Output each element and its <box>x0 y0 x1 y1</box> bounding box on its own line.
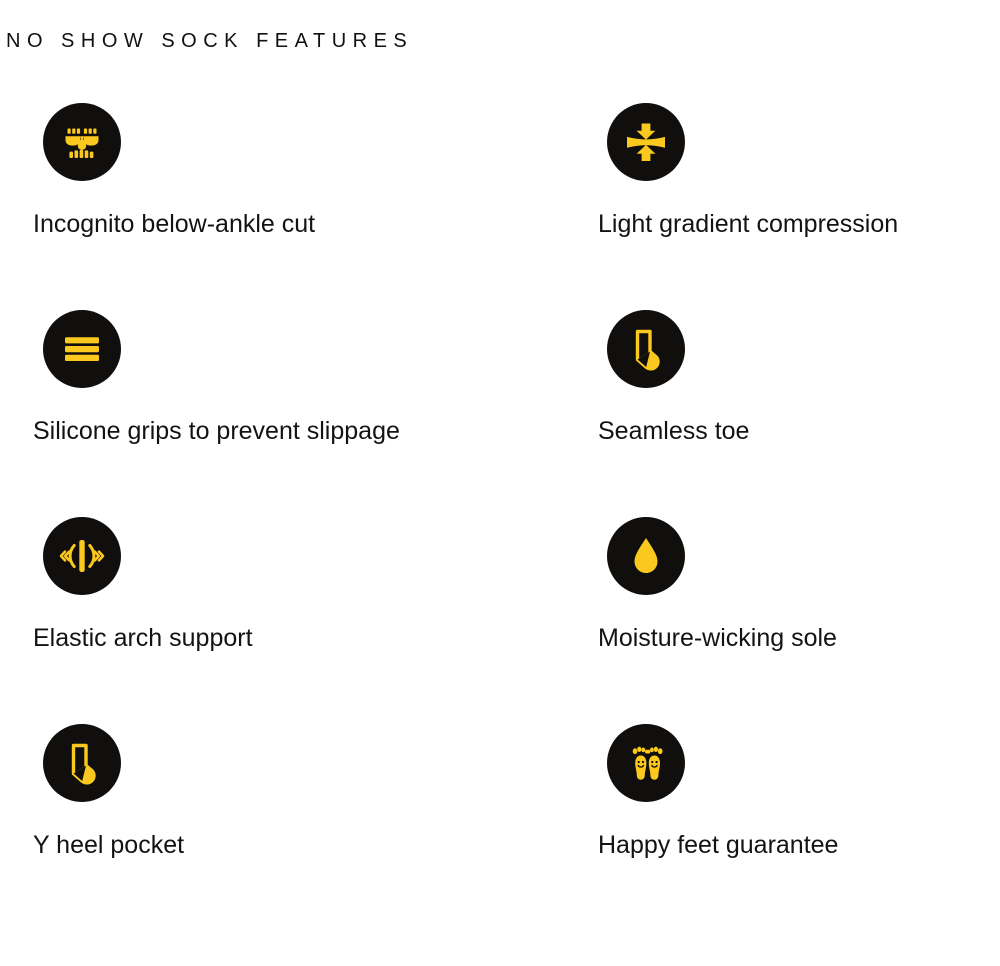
water-droplet-icon <box>607 517 685 595</box>
feature-item: Silicone grips to prevent slippage <box>0 310 604 517</box>
happy-footprints-icon <box>607 724 685 802</box>
feature-item: Seamless toe <box>604 310 1000 517</box>
feature-label: Moisture-wicking sole <box>598 623 1000 653</box>
feature-label: Incognito below-ankle cut <box>33 209 604 239</box>
feature-label: Y heel pocket <box>33 830 604 860</box>
feature-item: Incognito below-ankle cut <box>0 103 604 310</box>
feature-label: Seamless toe <box>598 416 1000 446</box>
feature-list-page: NO SHOW SOCK FEATURES <box>0 0 1000 966</box>
feature-item: Y heel pocket <box>0 724 604 931</box>
incognito-face-icon <box>43 103 121 181</box>
feature-item: Light gradient compression <box>604 103 1000 310</box>
feature-item: Happy feet guarantee <box>604 724 1000 931</box>
feature-label: Silicone grips to prevent slippage <box>33 416 604 446</box>
feature-item: Elastic arch support <box>0 517 604 724</box>
sock-icon <box>607 310 685 388</box>
compression-arrows-icon <box>607 103 685 181</box>
feature-item: Moisture-wicking sole <box>604 517 1000 724</box>
sock-icon <box>43 724 121 802</box>
grip-bars-icon <box>43 310 121 388</box>
feature-label: Light gradient compression <box>598 209 1000 239</box>
feature-label: Happy feet guarantee <box>598 830 1000 860</box>
page-title: NO SHOW SOCK FEATURES <box>6 30 413 53</box>
feature-label: Elastic arch support <box>33 623 604 653</box>
elastic-stretch-icon <box>43 517 121 595</box>
features-grid: Incognito below-ankle cut Light gradient… <box>0 103 1000 931</box>
